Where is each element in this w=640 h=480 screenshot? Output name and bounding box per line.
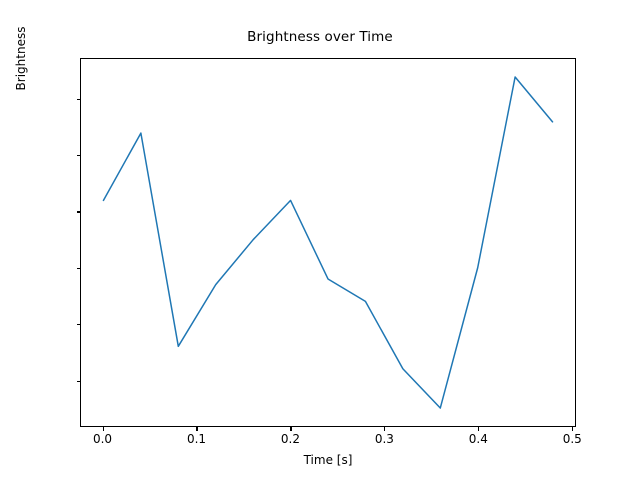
x-axis-tick-mark xyxy=(103,427,104,431)
y-axis-label: Brightness xyxy=(11,0,31,243)
x-axis-tick-mark xyxy=(196,427,197,431)
line-series-brightness xyxy=(103,77,552,408)
x-axis-tick-mark xyxy=(572,427,573,431)
x-axis-tick-mark xyxy=(384,427,385,431)
x-axis-tick-label: 0.1 xyxy=(187,432,206,446)
x-axis-tick-mark xyxy=(478,427,479,431)
x-axis-tick-label: 0.5 xyxy=(563,432,582,446)
x-axis-tick-mark xyxy=(290,427,291,431)
plot-area xyxy=(80,58,576,427)
x-axis-tick-label: 0.4 xyxy=(469,432,488,446)
x-axis-tick-label: 0.3 xyxy=(375,432,394,446)
x-axis-label: Time [s] xyxy=(80,453,576,467)
data-series-svg xyxy=(81,59,575,426)
chart-title: Brightness over Time xyxy=(0,29,640,45)
chart-figure: Brightness over Time Brightness 60708090… xyxy=(0,0,640,480)
x-axis-tick-label: 0.0 xyxy=(93,432,112,446)
x-axis-tick-label: 0.2 xyxy=(281,432,300,446)
